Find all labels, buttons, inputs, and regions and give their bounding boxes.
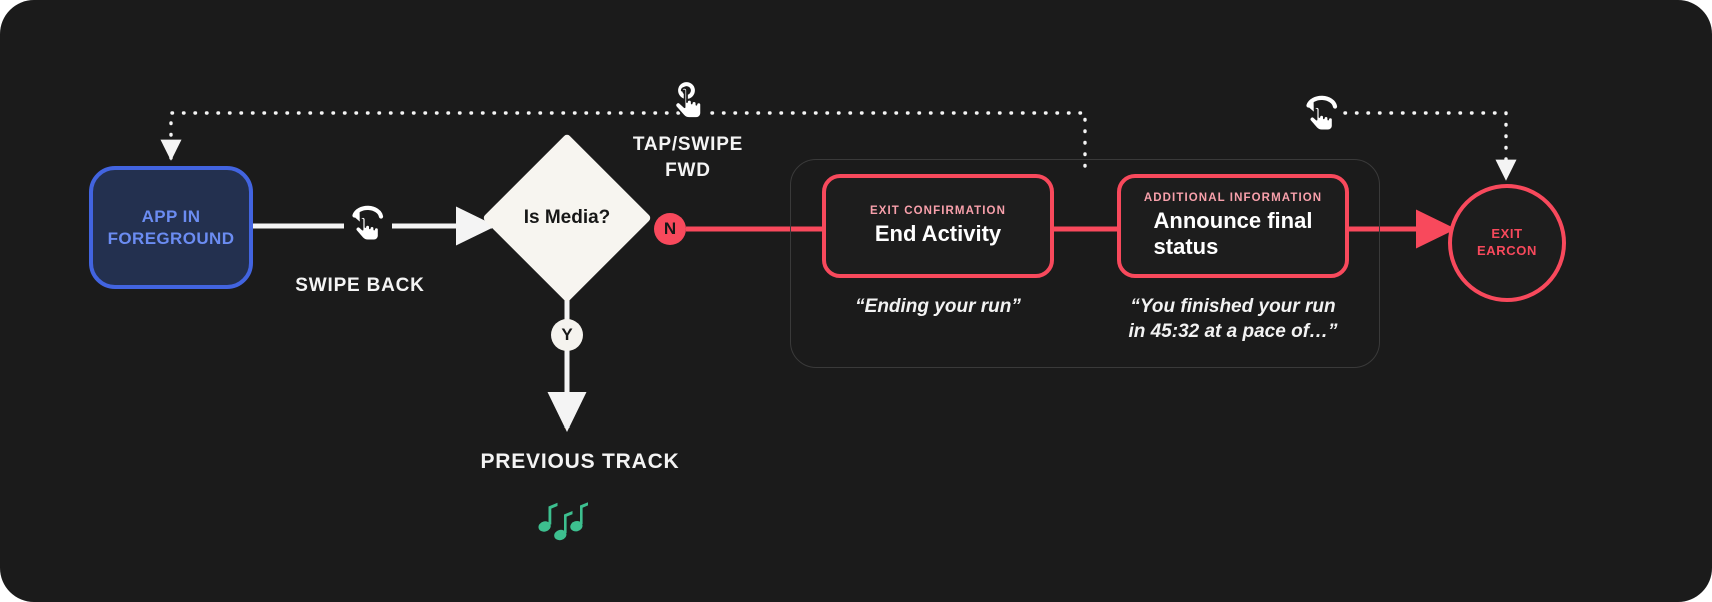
card-exit-confirmation[interactable]: EXIT CONFIRMATION End Activity [822,174,1054,278]
card-additional-information-title: Announce final status [1154,208,1313,260]
card-additional-information-title-line2: status [1154,234,1313,260]
label-tap-swipe-fwd-line1: TAP/SWIPE [600,132,776,158]
caption-additional-information: “You finished your run in 45:32 at a pac… [1105,294,1361,344]
swipe-back-gesture-icon-return [1299,92,1343,136]
caption-additional-information-line1: “You finished your run [1105,294,1361,319]
music-notes-icon [531,497,593,559]
card-additional-information[interactable]: ADDITIONAL INFORMATION Announce final st… [1117,174,1349,278]
label-previous-track: PREVIOUS TRACK [420,450,740,474]
app-foreground-label-line1: APP IN [108,206,235,227]
card-exit-confirmation-eyebrow: EXIT CONFIRMATION [870,205,1006,217]
label-tap-swipe-fwd-line2: FWD [600,158,776,184]
node-app-in-foreground[interactable]: APP IN FOREGROUND [89,166,253,289]
label-tap-swipe-fwd: TAP/SWIPE FWD [600,132,776,183]
exit-earcon-label-line1: EXIT [1477,226,1537,243]
flow-diagram-canvas: APP IN FOREGROUND SWIPE BACK Is Media? N… [0,0,1712,602]
card-additional-information-title-line1: Announce final [1154,208,1313,234]
swipe-back-gesture-icon [345,202,389,246]
node-exit-earcon[interactable]: EXIT EARCON [1448,184,1566,302]
decision-badge-no: N [654,213,686,245]
tap-gesture-icon [666,82,710,130]
card-additional-information-eyebrow: ADDITIONAL INFORMATION [1144,192,1322,204]
caption-exit-confirmation: “Ending your run” [822,294,1054,319]
exit-earcon-label-line2: EARCON [1477,243,1537,260]
decision-badge-yes: Y [551,319,583,351]
app-foreground-label-line2: FOREGROUND [108,228,235,249]
caption-additional-information-line2: in 45:32 at a pace of…” [1105,319,1361,344]
label-swipe-back: SWIPE BACK [240,275,480,297]
card-exit-confirmation-title: End Activity [875,221,1001,247]
